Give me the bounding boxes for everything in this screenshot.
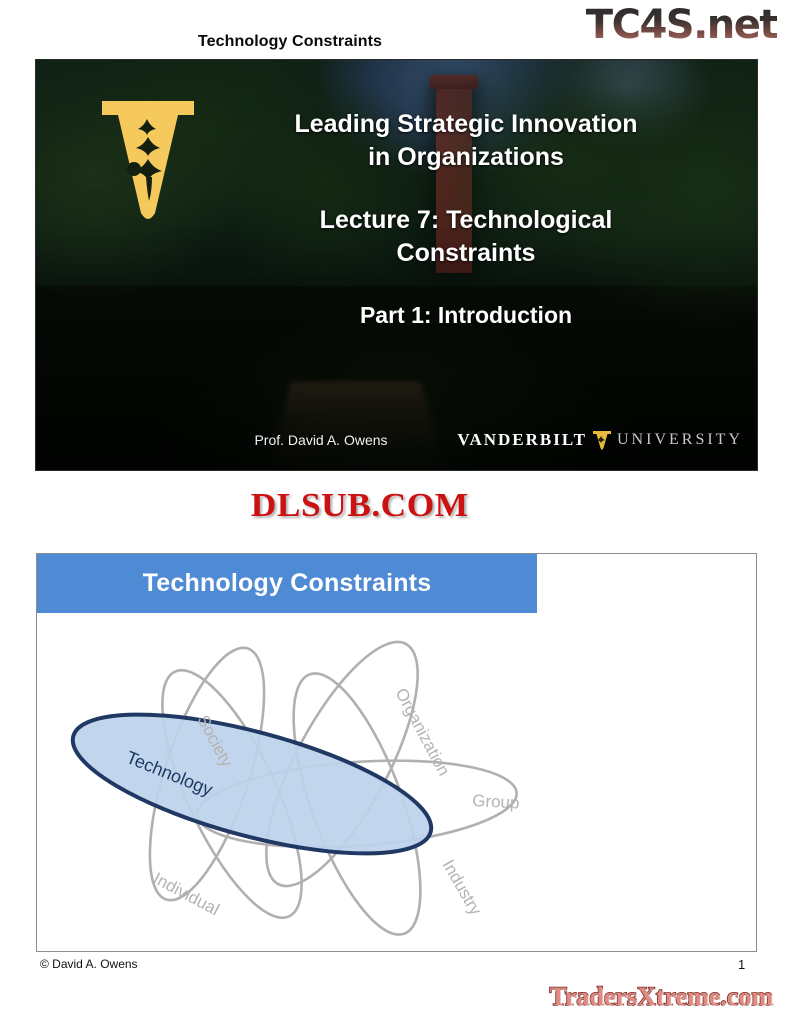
ellipse-label-group: Group bbox=[472, 791, 520, 812]
page-header: Technology Constraints TC4S.net bbox=[0, 0, 791, 60]
copyright-notice: © David A. Owens bbox=[40, 957, 138, 971]
page-title: Technology Constraints bbox=[0, 33, 580, 51]
ellipse-label-organization: Organization bbox=[391, 685, 453, 779]
dlsub-watermark: DLSUB.COM bbox=[251, 487, 469, 525]
tradersxtreme-watermark: TradersXtreme.com bbox=[549, 982, 773, 1012]
title-slide: Leading Strategic Innovation in Organiza… bbox=[36, 60, 757, 470]
ellipse-technology bbox=[60, 686, 444, 882]
diagram-slide-title: Technology Constraints bbox=[37, 554, 537, 613]
ellipse-label-industry: Industry bbox=[439, 857, 486, 919]
vanderbilt-university-wordmark: VANDERBILT UNIVERSITY bbox=[457, 428, 743, 452]
wordmark-vanderbilt: VANDERBILT bbox=[457, 430, 587, 450]
tc4s-watermark: TC4S.net bbox=[586, 5, 777, 45]
slide-part-label: Part 1: Introduction bbox=[206, 300, 726, 330]
diagram-slide: Technology Constraints Society Organizat… bbox=[36, 553, 757, 952]
vanderbilt-v-icon bbox=[592, 429, 612, 451]
constraints-ellipse-diagram: Society Organization Group Industry Indi… bbox=[57, 614, 537, 944]
title-slide-text: Leading Strategic Innovation in Organiza… bbox=[206, 108, 726, 330]
wordmark-university: UNIVERSITY bbox=[617, 431, 743, 449]
slide-title-line1: Leading Strategic Innovation bbox=[206, 108, 726, 141]
slide-subtitle-line1: Lecture 7: Technological bbox=[206, 204, 726, 237]
page-number: 1 bbox=[738, 957, 745, 972]
slide-title-line2: in Organizations bbox=[206, 141, 726, 174]
vanderbilt-oakleaf-v-icon bbox=[98, 95, 198, 225]
ellipse-label-individual: Individual bbox=[150, 869, 222, 919]
slide-subtitle-line2: Constraints bbox=[206, 237, 726, 270]
presenter-name: Prof. David A. Owens bbox=[186, 432, 456, 448]
